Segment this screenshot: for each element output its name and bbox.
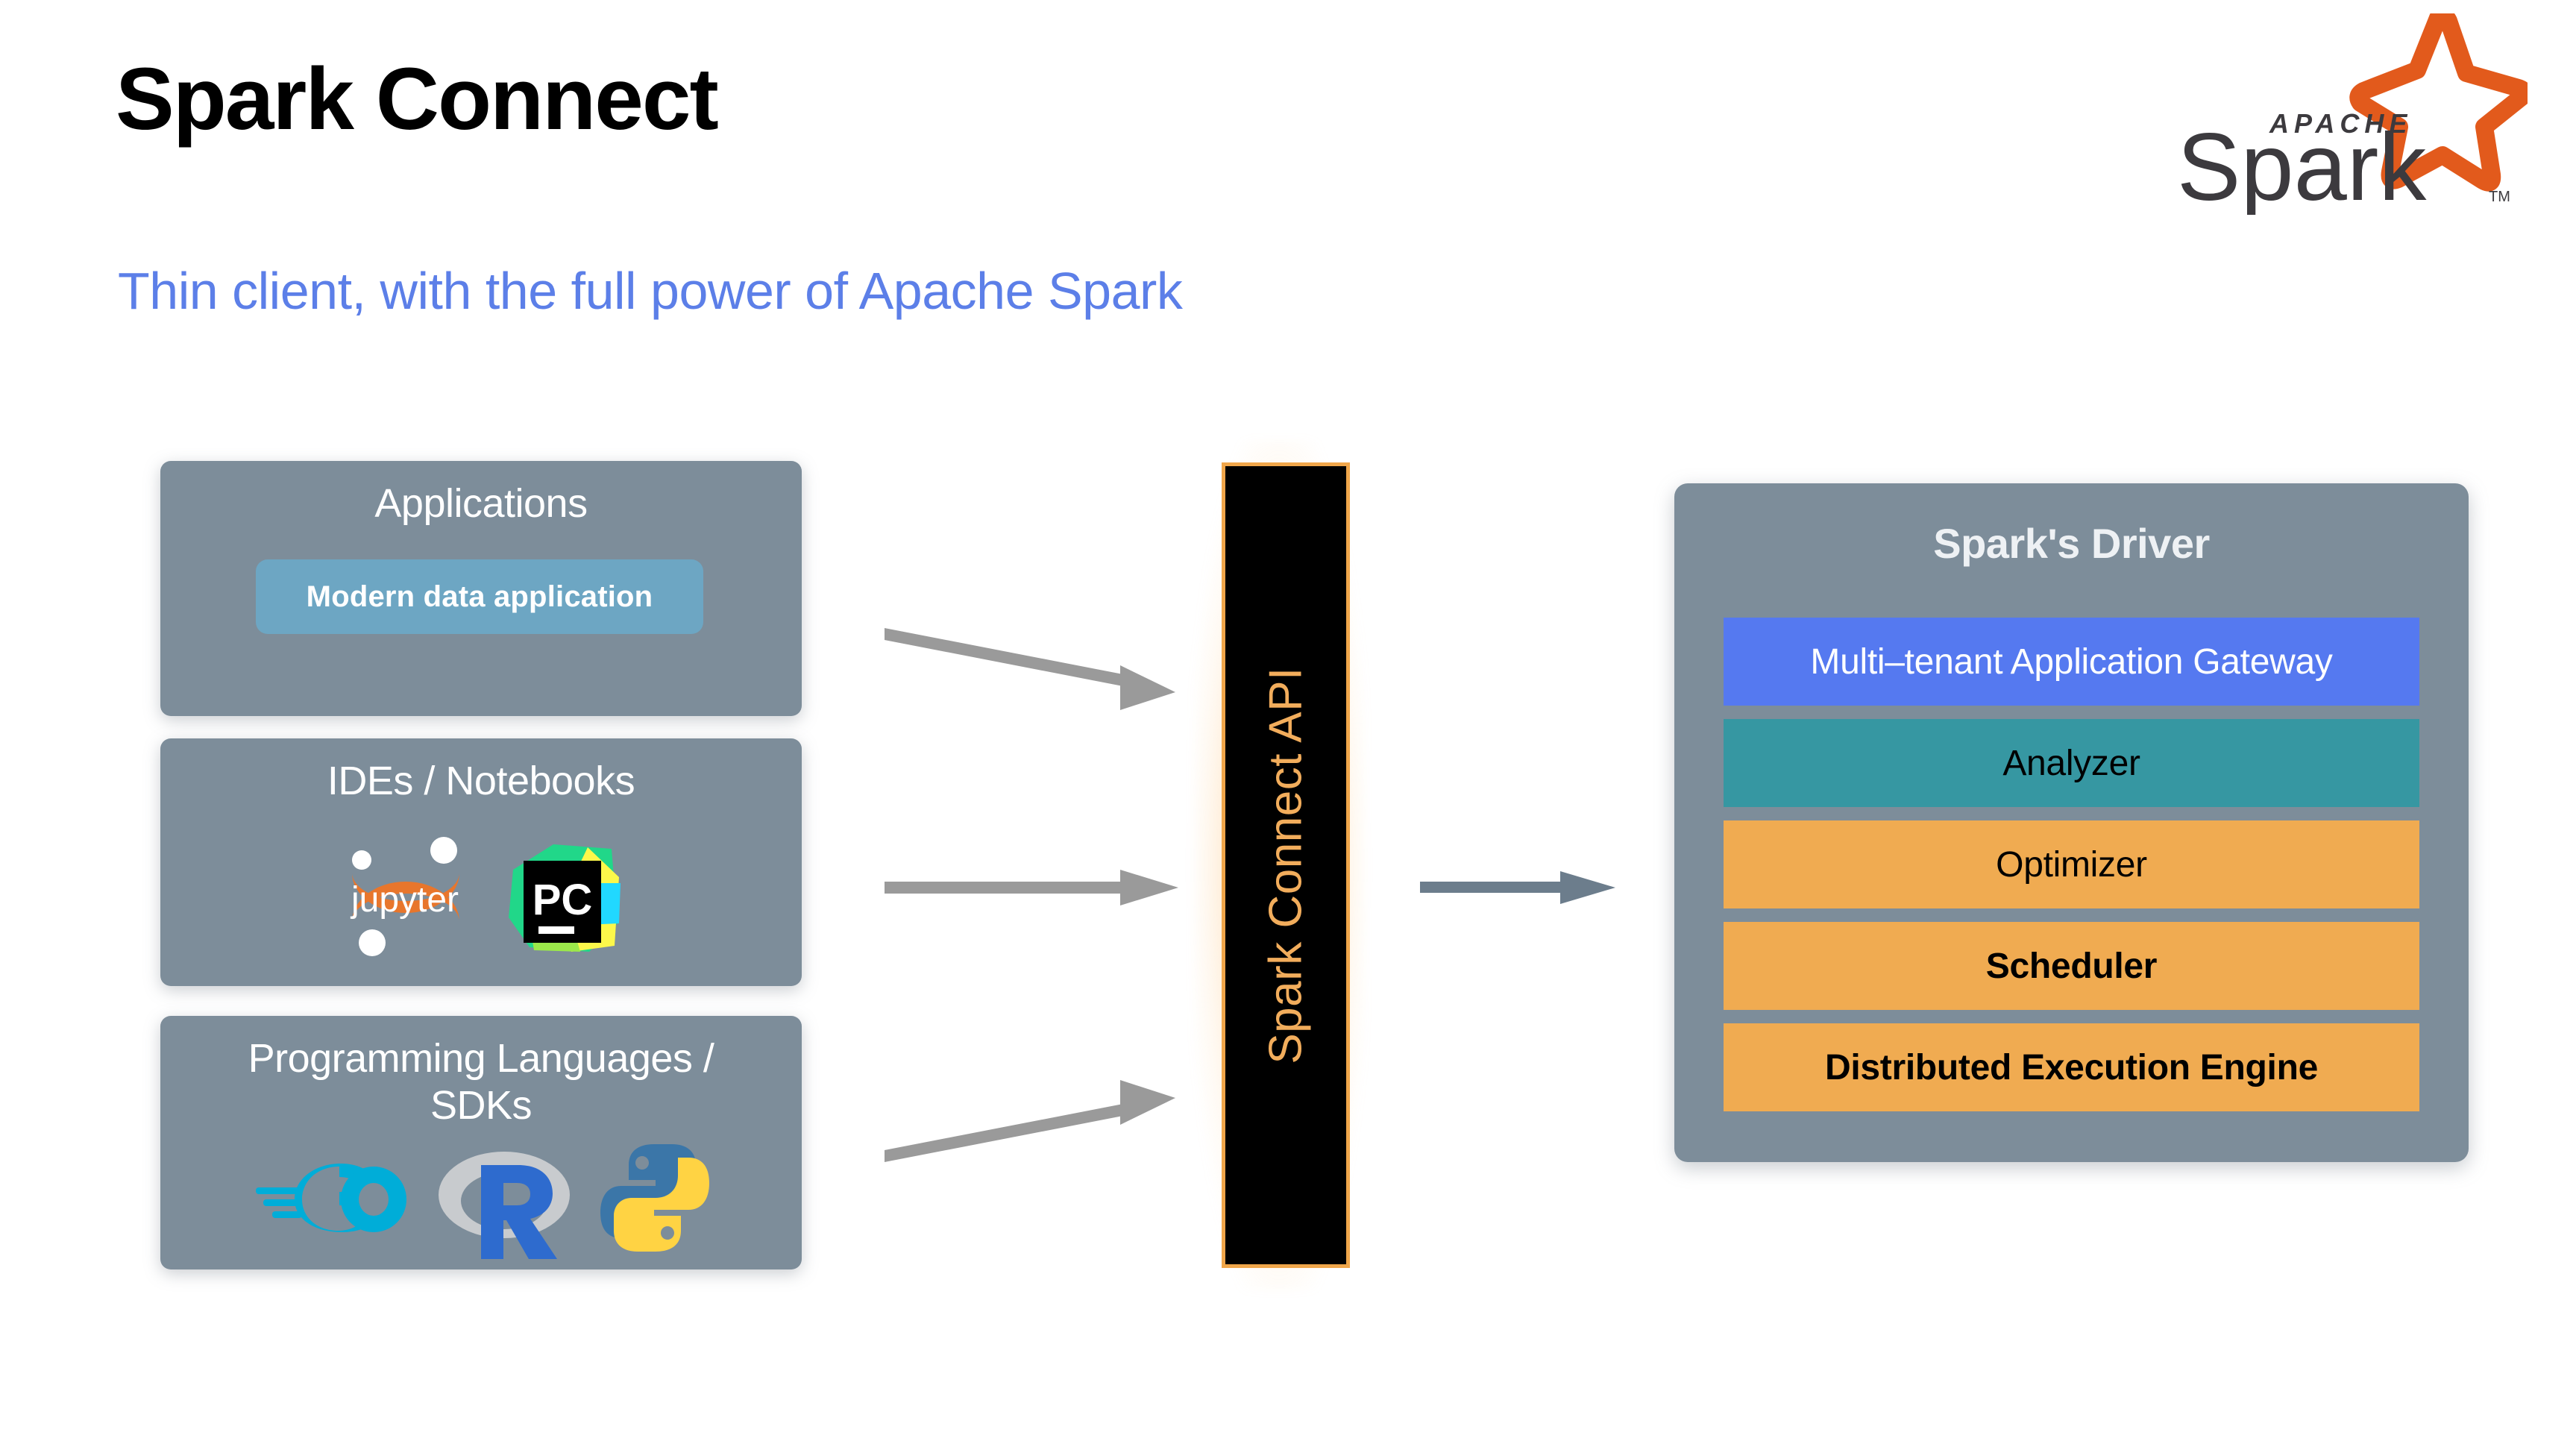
driver-row-analyzer[interactable]: Analyzer	[1724, 719, 2419, 807]
ide-logo-row: jupyter PC	[160, 834, 802, 959]
card-title-languages-line1: Programming Languages /	[160, 1035, 802, 1082]
client-card-ides[interactable]: IDEs / Notebooks jupyter PC	[160, 738, 802, 986]
arrow-connect-to-driver	[1417, 865, 1626, 910]
page-subtitle: Thin client, with the full power of Apac…	[118, 261, 1182, 321]
apache-spark-logo: APACHE Spark TM	[2140, 13, 2528, 215]
client-card-applications[interactable]: Applications Modern data application	[160, 461, 802, 716]
card-title-ides: IDEs / Notebooks	[160, 738, 802, 805]
python-logo: python	[599, 1141, 711, 1255]
logo-trademark: TM	[2489, 189, 2510, 205]
spark-connect-api-label: Spark Connect API	[1260, 667, 1313, 1064]
slide-canvas: Spark Connect Thin client, with the full…	[0, 0, 2576, 1447]
card-title-applications: Applications	[160, 461, 802, 527]
language-logo-row: GO R python	[160, 1135, 802, 1261]
card-title-languages: Programming Languages / SDKs	[160, 1016, 802, 1129]
spark-driver-title: Spark's Driver	[1674, 483, 2469, 568]
driver-component-stack: Multi–tenant Application Gateway Analyze…	[1724, 618, 2419, 1111]
go-logo: GO	[251, 1153, 409, 1243]
spark-connect-api-bar[interactable]: Spark Connect API	[1222, 462, 1350, 1268]
driver-row-optimizer[interactable]: Optimizer	[1724, 820, 2419, 908]
jupyter-wordmark: jupyter	[350, 880, 459, 920]
modern-data-application-chip[interactable]: Modern data application	[256, 559, 703, 634]
driver-row-scheduler[interactable]: Scheduler	[1724, 922, 2419, 1010]
r-logo: R	[435, 1135, 574, 1261]
driver-row-distributed-execution-engine[interactable]: Distributed Execution Engine	[1724, 1023, 2419, 1111]
pycharm-logo: PC	[500, 834, 625, 959]
arrow-applications-to-connect	[880, 619, 1193, 723]
arrow-ides-to-connect	[880, 858, 1193, 917]
spark-driver-panel[interactable]: Spark's Driver Multi–tenant Application …	[1674, 483, 2469, 1162]
logo-spark-word: Spark	[2177, 114, 2427, 215]
client-card-languages[interactable]: Programming Languages / SDKs GO	[160, 1016, 802, 1269]
jupyter-logo: jupyter	[337, 834, 473, 959]
driver-row-gateway[interactable]: Multi–tenant Application Gateway	[1724, 618, 2419, 706]
pycharm-pc-text: PC	[533, 876, 593, 924]
card-title-languages-line2: SDKs	[160, 1082, 802, 1129]
page-title: Spark Connect	[116, 54, 717, 146]
arrow-languages-to-connect	[880, 1067, 1193, 1171]
